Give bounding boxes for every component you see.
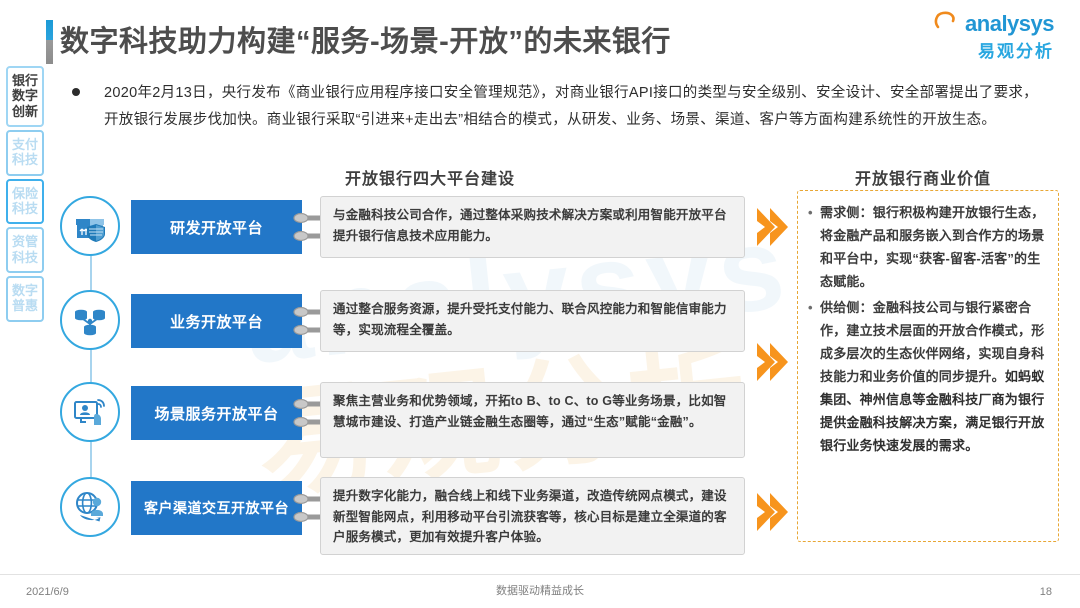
platform-label-customer-channel[interactable]: 客户渠道交互开放平台 [131, 481, 302, 535]
logo-swoosh-icon [934, 10, 960, 32]
sidebar: 银行数字创新 支付科技 保险科技 资管科技 数字普惠 [6, 66, 44, 325]
footer-page-number: 18 [1040, 586, 1052, 598]
value-item-demand-side: 需求侧：银行积极构建开放银行生态，将金融产品和服务嵌入到合作方的场景和平台中，实… [820, 205, 1044, 289]
business-value-panel: 需求侧：银行积极构建开放银行生态，将金融产品和服务嵌入到合作方的场景和平台中，实… [797, 190, 1059, 542]
chevron-right-icon [755, 205, 789, 249]
left-column-heading: 开放银行四大平台建设 [345, 165, 515, 189]
package-shield-icon [60, 196, 120, 256]
list-item: 供给侧：金融科技公司与银行紧密合作，建立技术层面的开放合作模式，形成多层次的生态… [806, 296, 1048, 458]
footer-divider [0, 574, 1080, 575]
slide-root: analysys 易观分析 数字科技助力构建“服务-场景-开放”的未来银行 an… [0, 0, 1080, 608]
platform-description-scenario: 聚焦主营业务和优势领域，开拓to B、to C、to G等业务场景，比如智慧城市… [320, 382, 745, 458]
timeline-spine [90, 237, 92, 509]
sidebar-item-label: 支付科技 [8, 137, 42, 168]
intro-text: 2020年2月13日，央行发布《商业银行应用程序接口安全管理规范》，对商业银行A… [104, 80, 1052, 134]
title-accent-bar [46, 20, 53, 64]
screen-user-signal-icon [60, 382, 120, 442]
platform-description-business: 通过整合服务资源，提升受托支付能力、联合风控能力和智能信审能力等，实现流程全覆盖… [320, 290, 745, 352]
platform-label-rd[interactable]: 研发开放平台 [131, 200, 302, 254]
sidebar-item-label: 银行数字创新 [8, 73, 42, 119]
platform-label-business[interactable]: 业务开放平台 [131, 294, 302, 348]
business-value-list: 需求侧：银行积极构建开放银行生态，将金融产品和服务嵌入到合作方的场景和平台中，实… [806, 201, 1048, 457]
platform-description-rd: 与金融科技公司合作，通过整体采购技术解决方案或利用智能开放平台提升银行信息技术应… [320, 196, 745, 258]
chevron-right-icon [755, 340, 789, 384]
sidebar-item-label: 资管科技 [8, 234, 42, 265]
bullet-dot-icon [72, 88, 80, 96]
brand-logo: analysys 易观分析 [928, 12, 1054, 68]
sidebar-item-bank-digital-innovation[interactable]: 银行数字创新 [6, 66, 44, 127]
database-network-icon [60, 290, 120, 350]
sidebar-item-asset-management-tech[interactable]: 资管科技 [6, 227, 44, 273]
logo-chinese-name: 易观分析 [928, 37, 1054, 62]
sidebar-item-digital-inclusive-finance[interactable]: 数字普惠 [6, 276, 44, 322]
list-item: 需求侧：银行积极构建开放银行生态，将金融产品和服务嵌入到合作方的场景和平台中，实… [806, 201, 1048, 294]
globe-user-icon [60, 477, 120, 537]
page-title: 数字科技助力构建“服务-场景-开放”的未来银行 [60, 18, 671, 60]
sidebar-item-payment-tech[interactable]: 支付科技 [6, 130, 44, 176]
sidebar-item-label: 数字普惠 [8, 283, 42, 314]
footer-tagline: 数据驱动精益成长 [0, 582, 1080, 598]
chevron-right-icon [755, 490, 789, 534]
sidebar-item-insurance-tech[interactable]: 保险科技 [6, 179, 44, 225]
intro-paragraph: 2020年2月13日，央行发布《商业银行应用程序接口安全管理规范》，对商业银行A… [72, 80, 1052, 134]
platform-description-customer-channel: 提升数字化能力，融合线上和线下业务渠道，改造传统网点模式，建设新型智能网点，利用… [320, 477, 745, 555]
platform-label-scenario[interactable]: 场景服务开放平台 [131, 386, 302, 440]
right-column-heading: 开放银行商业价值 [855, 165, 991, 189]
sidebar-item-label: 保险科技 [8, 186, 42, 217]
